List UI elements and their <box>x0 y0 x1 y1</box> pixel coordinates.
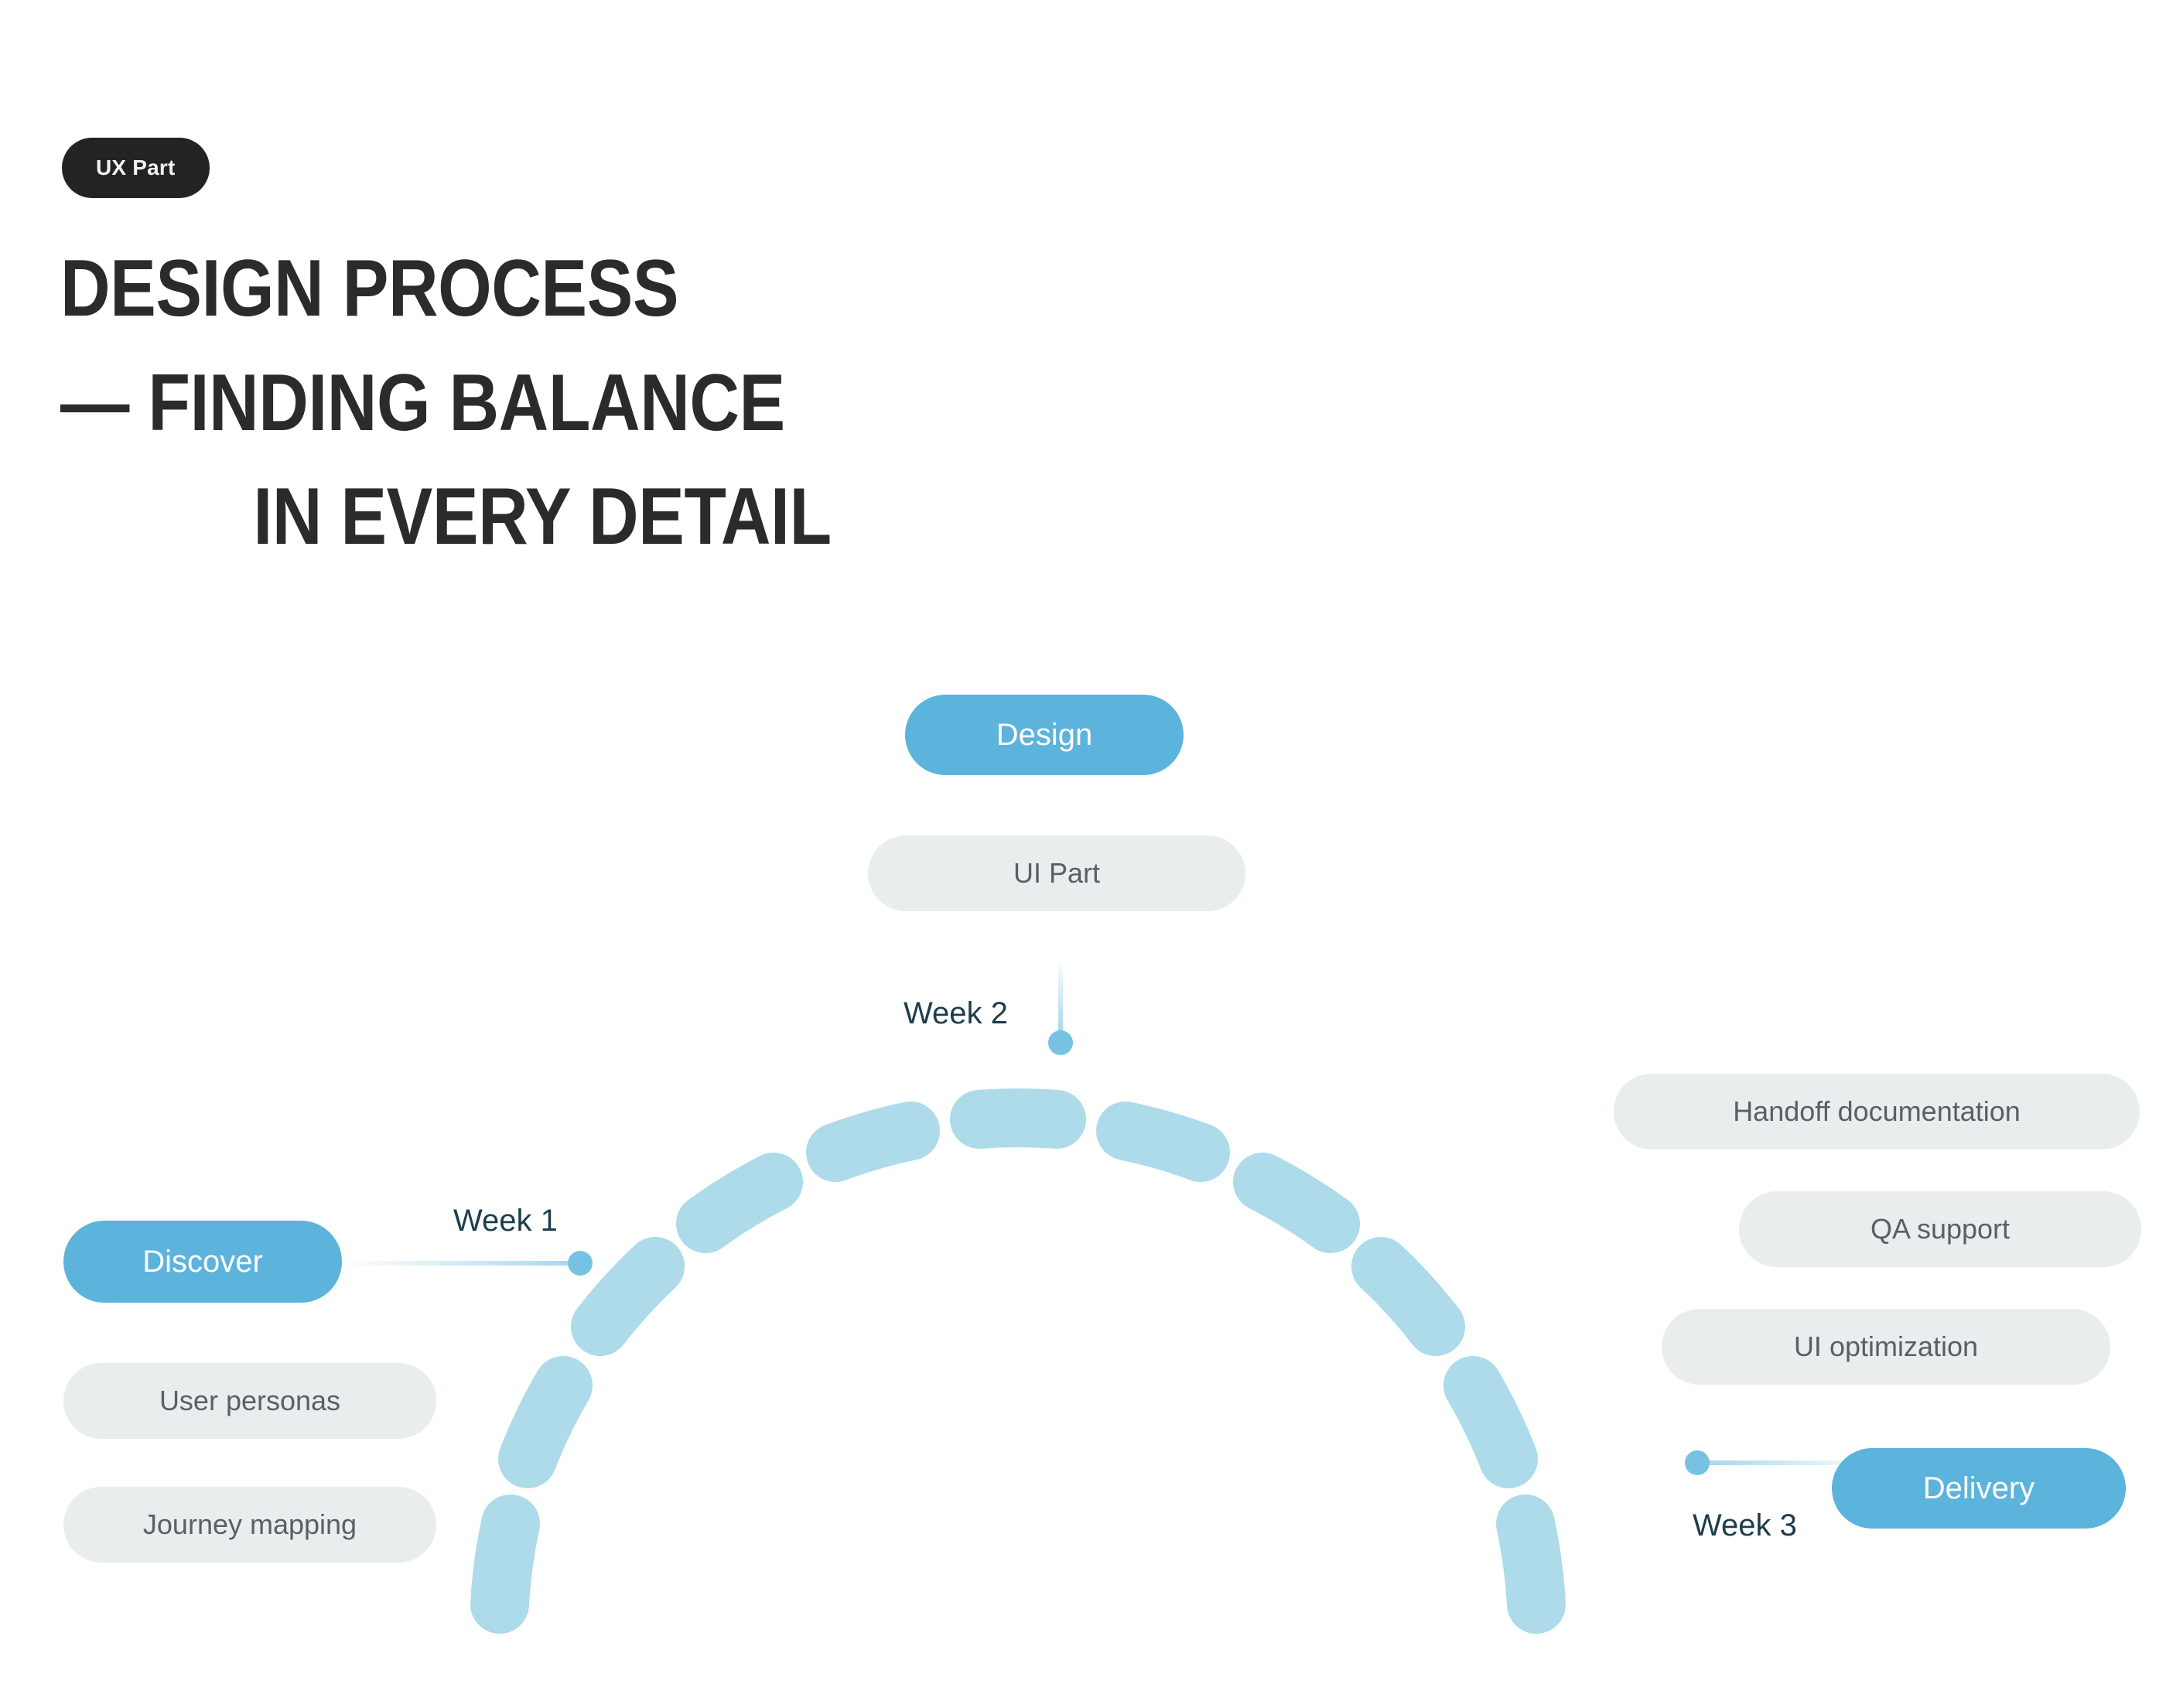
week2-connector-line <box>1058 958 1063 1035</box>
arc-segment <box>705 1182 774 1224</box>
stage-pill-delivery[interactable]: Delivery <box>1832 1448 2126 1529</box>
task-pill-qa-support[interactable]: QA support <box>1739 1191 2141 1267</box>
task-pill-ui-optimization[interactable]: UI optimization <box>1662 1309 2110 1385</box>
page-title: DESIGN PROCESS — FINDING BALANCE IN EVER… <box>60 232 1391 575</box>
task-pill-handoff-documentation[interactable]: Handoff documentation <box>1614 1074 2140 1149</box>
week-3-label: Week 3 <box>1693 1508 1797 1543</box>
arc-segment <box>979 1118 1057 1119</box>
page-title-line-1: DESIGN PROCESS <box>60 232 1391 347</box>
arc-segments <box>500 1118 1536 1604</box>
arc-segment <box>1525 1524 1536 1604</box>
week-2-label: Week 2 <box>904 996 1008 1031</box>
task-pill-ui-part[interactable]: UI Part <box>868 835 1245 911</box>
week1-connector-line <box>340 1261 580 1266</box>
arc-segment <box>1381 1266 1436 1327</box>
arc-segment <box>528 1385 563 1459</box>
stage-pill-discover[interactable]: Discover <box>63 1221 342 1303</box>
task-pill-user-personas[interactable]: User personas <box>63 1363 436 1439</box>
process-arc <box>464 1029 1717 1617</box>
arc-segment <box>500 1524 511 1604</box>
stage-pill-design[interactable]: Design <box>905 695 1184 775</box>
arc-segment <box>835 1131 910 1153</box>
slide-canvas: UX Part DESIGN PROCESS — FINDING BALANCE… <box>0 0 2166 1708</box>
week1-connector-dot <box>568 1251 593 1276</box>
arc-segment <box>1126 1131 1201 1153</box>
ux-part-badge[interactable]: UX Part <box>62 138 210 198</box>
arc-segment <box>1262 1182 1331 1224</box>
arc-segment <box>600 1266 655 1327</box>
task-pill-journey-mapping[interactable]: Journey mapping <box>63 1487 436 1563</box>
page-title-line-3: IN EVERY DETAIL <box>60 460 1391 575</box>
week3-connector-dot <box>1685 1450 1710 1475</box>
arc-segment <box>1473 1385 1508 1459</box>
week-1-label: Week 1 <box>453 1204 558 1238</box>
week2-connector-dot <box>1048 1030 1073 1055</box>
page-title-line-2: — FINDING BALANCE <box>60 347 1391 461</box>
